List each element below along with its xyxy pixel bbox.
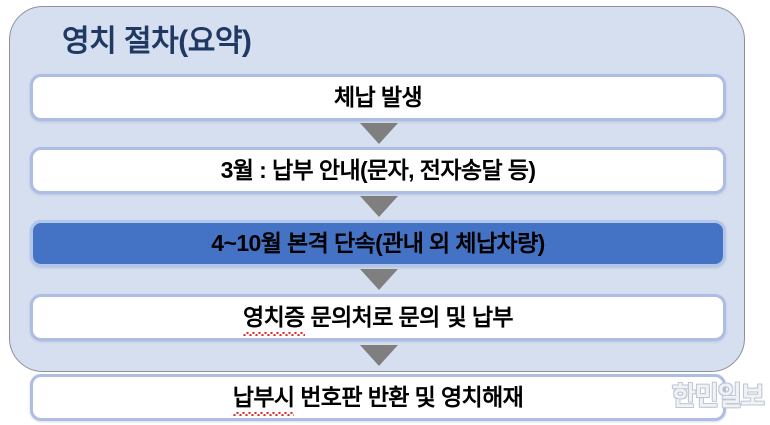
flow-step-4: 영치증 문의처로 문의 및 납부 (30, 294, 726, 341)
arrow-down-icon-1 (360, 123, 398, 144)
arrow-down-icon-3 (360, 269, 398, 290)
arrow-down-icon-2 (360, 196, 398, 217)
flow-step-1-label: 체납 발생 (334, 86, 422, 109)
flow-step-1-text: 체납 발생 (334, 84, 422, 110)
page-title: 영치 절차(요약) (62, 23, 251, 61)
flow-step-4-text: 문의처로 문의 및 납부 (305, 304, 513, 330)
flow-step-3-highlighted: 4~10월 본격 단속(관내 외 체납차량) (30, 220, 726, 267)
flow-step-2-text: 3월 : 납부 안내(문자, 전자송달 등) (221, 157, 536, 183)
arrow-down-icon-4 (360, 345, 398, 366)
publisher-watermark: 한민일보 (672, 376, 764, 413)
flow-step-5-text: 번호판 반환 및 영치해재 (294, 384, 523, 410)
flowchart-screenshot: 영치 절차(요약) 체납 발생 3월 : 납부 안내(문자, 전자송달 등) 4… (0, 0, 770, 425)
flow-step-3-label: 4~10월 본격 단속(관내 외 체납차량) (211, 232, 544, 255)
flow-step-2: 3월 : 납부 안내(문자, 전자송달 등) (30, 147, 726, 194)
flow-step-4-label: 영치증 문의처로 문의 및 납부 (243, 306, 513, 329)
flow-step-5-label: 납부시 번호판 반환 및 영치해재 (233, 386, 523, 409)
flow-step-2-label: 3월 : 납부 안내(문자, 전자송달 등) (221, 159, 536, 182)
flow-step-5: 납부시 번호판 반환 및 영치해재 (30, 374, 726, 421)
flow-step-3-text: 4~10월 본격 단속(관내 외 체납차량) (211, 230, 544, 256)
flow-step-4-misspelled: 영치증 (243, 306, 305, 329)
flow-step-1: 체납 발생 (30, 74, 726, 121)
flow-step-5-misspelled: 납부시 (233, 386, 295, 409)
